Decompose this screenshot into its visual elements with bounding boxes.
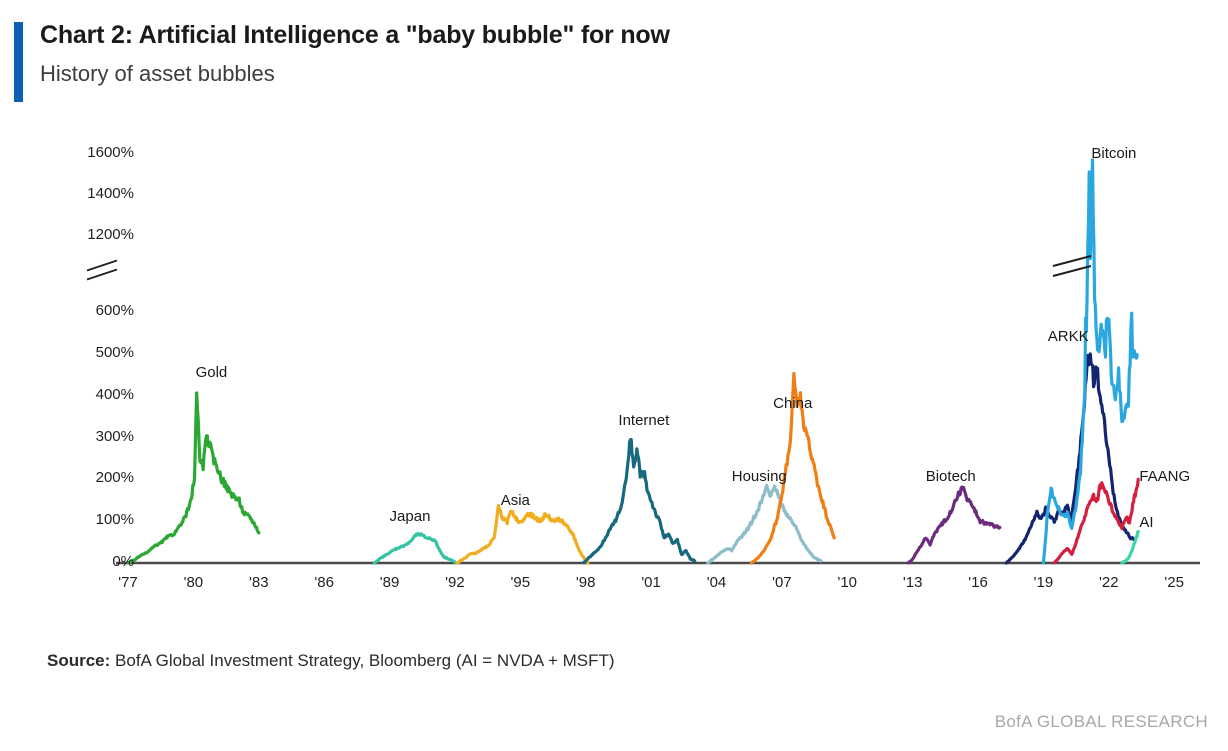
brand-footer: BofA GLOBAL RESEARCH bbox=[995, 712, 1208, 732]
source-label: Source: bbox=[47, 651, 110, 670]
series-label-china: China bbox=[773, 395, 812, 412]
series-label-gold: Gold bbox=[196, 364, 228, 381]
source-note: Source: BofA Global Investment Strategy,… bbox=[47, 651, 615, 671]
series-label-bitcoin: Bitcoin bbox=[1091, 145, 1136, 162]
series-label-ai: AI bbox=[1139, 514, 1153, 531]
series-labels: GoldJapanAsiaInternetHousingChinaBiotech… bbox=[0, 0, 1228, 600]
chart-container: Chart 2: Artificial Intelligence a "baby… bbox=[0, 0, 1228, 751]
series-label-faang: FAANG bbox=[1139, 468, 1190, 485]
series-label-internet: Internet bbox=[618, 412, 669, 429]
series-label-biotech: Biotech bbox=[926, 468, 976, 485]
source-text: BofA Global Investment Strategy, Bloombe… bbox=[115, 651, 615, 670]
series-label-japan: Japan bbox=[390, 508, 431, 525]
series-label-asia: Asia bbox=[501, 492, 530, 509]
series-label-arkk: ARKK bbox=[1048, 328, 1089, 345]
series-label-housing: Housing bbox=[732, 468, 787, 485]
